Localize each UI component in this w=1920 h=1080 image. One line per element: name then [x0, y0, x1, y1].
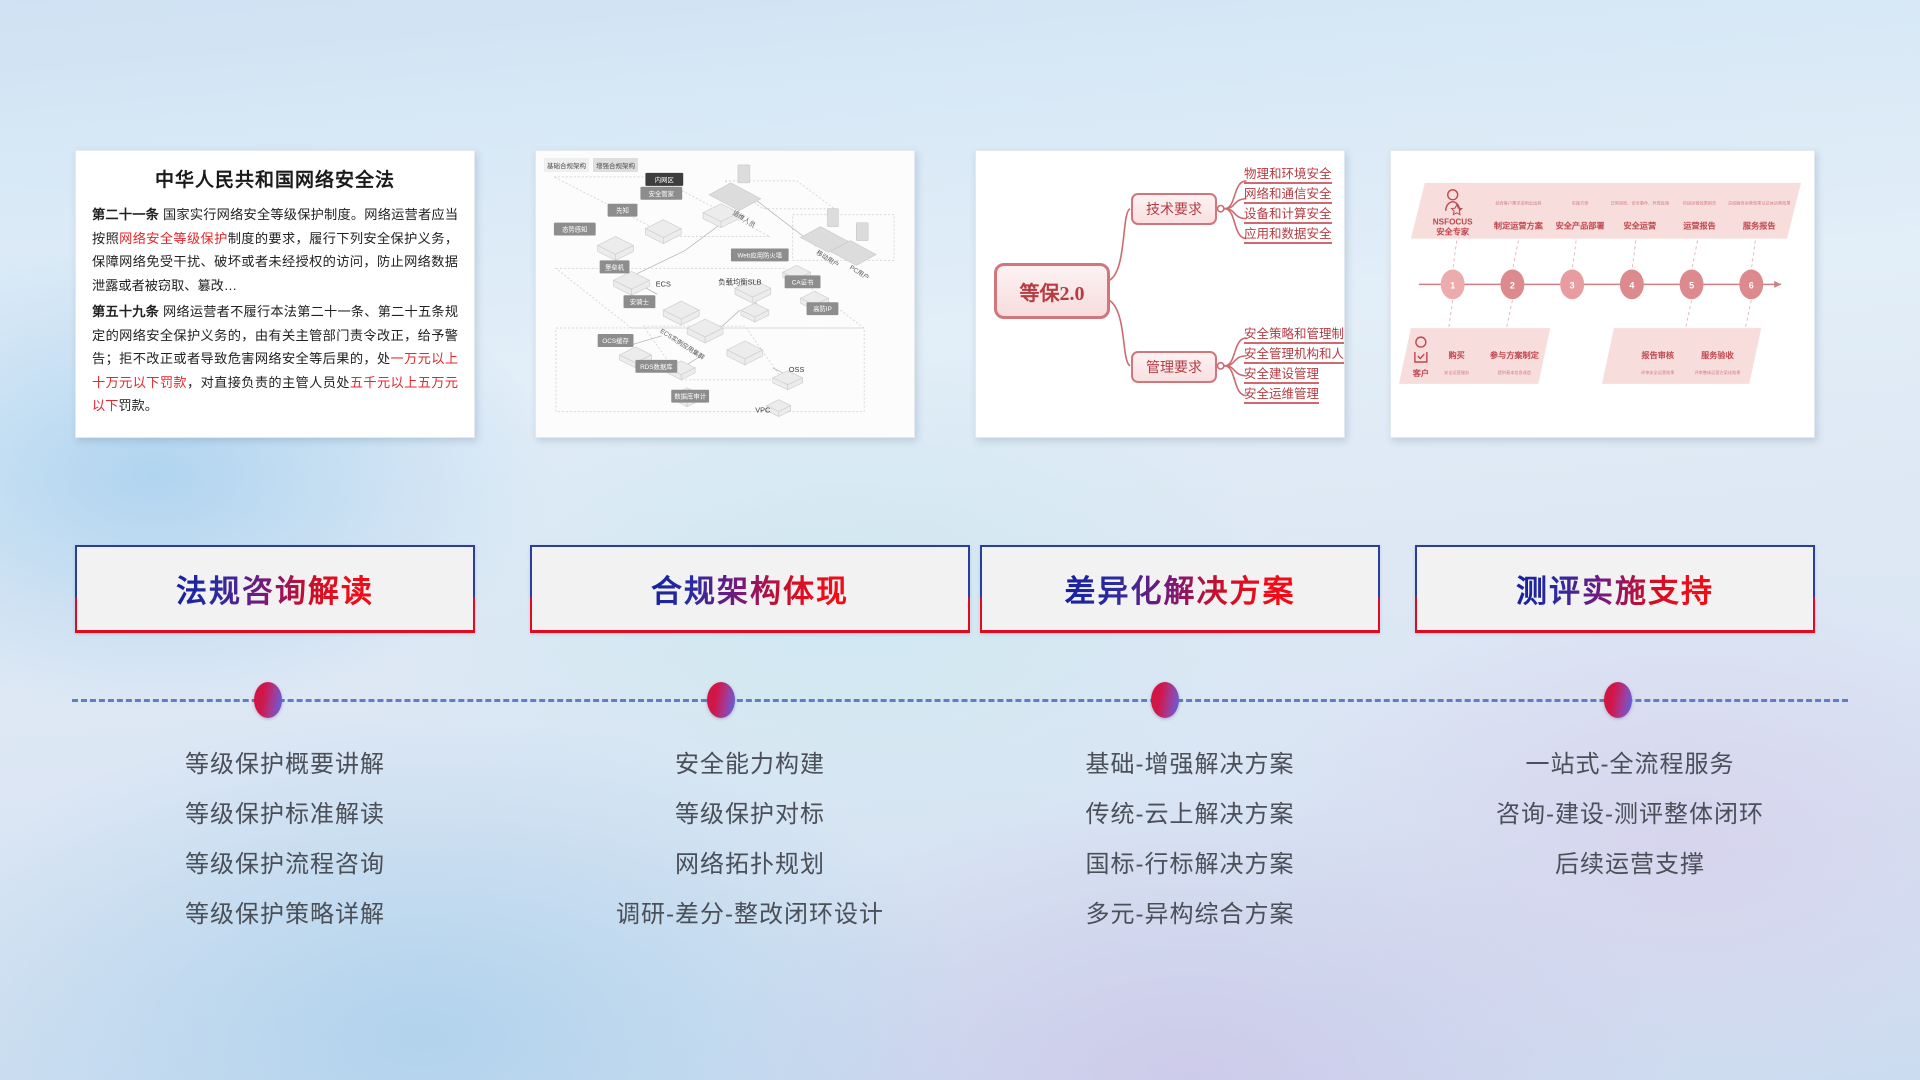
- bottom-band-right: [1602, 328, 1761, 384]
- headline-label: 测评实施支持: [1516, 566, 1714, 611]
- headline-label: 合规架构体现: [651, 566, 849, 611]
- headline-box-regulation-consulting[interactable]: 法规咨询解读: [75, 545, 475, 633]
- top-step-sub: 日常巡检、安全事件、异周处理: [1611, 200, 1670, 206]
- law-paragraph-59: 第五十九条 网络运营者不履行本法第二十一条、第二十五条规定的网络安全保护义务的，…: [92, 300, 458, 418]
- law-run: 罚款。: [118, 398, 158, 413]
- top-step-title: 服务报告: [1743, 221, 1776, 231]
- node-label: 数据库审计: [674, 392, 706, 401]
- step-number: 2: [1510, 280, 1515, 290]
- node-label: OCS缓存: [602, 336, 629, 345]
- node-label: 高防IP: [813, 304, 832, 313]
- mindmap-root-node[interactable]: 等保2.0: [994, 263, 1110, 319]
- detail-lists-row: 等级保护概要讲解 等级保护标准解读 等级保护流程咨询 等级保护策略详解 安全能力…: [0, 740, 1920, 990]
- law-article-number: 第五十九条: [92, 304, 159, 319]
- timeline-connector: [0, 697, 1920, 705]
- timeline-dot-4[interactable]: [1604, 682, 1632, 718]
- mindmap-leaf[interactable]: 安全建设管理: [1244, 367, 1319, 384]
- node-label: OSS: [789, 365, 805, 374]
- mindmap-canvas: 等保2.0 技术要求 管理要求 物理和环境安全 网络和通信安全 设备和计算安全 …: [976, 151, 1344, 437]
- detail-list-differentiated-solution: 基础-增强解决方案 传统-云上解决方案 国标-行标解决方案 多元-异构综合方案: [980, 740, 1400, 940]
- card-mindmap-dengbao: 等保2.0 技术要求 管理要求 物理和环境安全 网络和通信安全 设备和计算安全 …: [975, 150, 1345, 438]
- bottom-step-title: 参与方案制定: [1490, 350, 1540, 360]
- step-number: 1: [1450, 280, 1455, 290]
- step-number: 3: [1570, 280, 1575, 290]
- list-item: 等级保护概要讲解: [75, 740, 495, 790]
- reference-cards-row: 中华人民共和国网络安全法 第二十一条 国家实行网络安全等级保护制度。网络运营者应…: [0, 150, 1920, 440]
- node-label: 内网区: [655, 175, 675, 184]
- list-item: 后续运营支撑: [1420, 840, 1840, 890]
- list-item: 等级保护标准解读: [75, 790, 495, 840]
- list-item: 等级保护流程咨询: [75, 840, 495, 890]
- mindmap-leaf[interactable]: 设备和计算安全: [1244, 207, 1332, 224]
- bottom-step-sub: 提供基本信息改造: [1498, 369, 1532, 375]
- nsfocus-canvas: 1 2 3 4 5 6 NSFOCUS 安全专家: [1391, 151, 1814, 437]
- headline-box-evaluation-support[interactable]: 测评实施支持: [1415, 545, 1815, 633]
- architecture-canvas: 基础合规架构 增强合规架构: [536, 151, 914, 437]
- node-label: 负载均衡SLB: [718, 277, 761, 286]
- mindmap-leaf[interactable]: 物理和环境安全: [1244, 167, 1332, 184]
- law-run: ，对直接负责的主管人员处: [187, 375, 350, 390]
- list-item: 调研-差分-整改闭环设计: [520, 890, 980, 940]
- mindmap-leaf[interactable]: 安全运维管理: [1244, 387, 1319, 404]
- timeline-dashed-line: [72, 699, 1848, 702]
- list-item: 国标-行标解决方案: [980, 840, 1400, 890]
- node-label: CA证书: [792, 277, 814, 286]
- bottom-step-sub: 评审整体运营方案化效果: [1694, 369, 1741, 375]
- headline-label: 差异化解决方案: [1065, 566, 1296, 611]
- law-article-number: 第二十一条: [92, 207, 159, 222]
- card-nsfocus-process: 1 2 3 4 5 6 NSFOCUS 安全专家: [1390, 150, 1815, 438]
- top-step-sub: 实施方案: [1572, 200, 1590, 206]
- headline-label: 法规咨询解读: [176, 566, 374, 611]
- top-step-sub: 阶段运营效果报告: [1683, 200, 1716, 206]
- headline-box-differentiated-solution[interactable]: 差异化解决方案: [980, 545, 1380, 633]
- law-paragraph-21: 第二十一条 国家实行网络安全等级保护制度。网络运营者应当按照网络安全等级保护制度…: [92, 203, 458, 297]
- list-item: 等级保护对标: [520, 790, 980, 840]
- top-step-title: 安全产品部署: [1556, 221, 1605, 231]
- law-run-highlight: 网络安全等级保护: [119, 231, 228, 246]
- node-label: 安全管家: [649, 189, 675, 198]
- bottom-step-title: 服务验收: [1701, 350, 1734, 360]
- detail-list-evaluation-support: 一站式-全流程服务 咨询-建设-测评整体闭环 后续运营支撑: [1420, 740, 1840, 890]
- top-actor-line2: 安全专家: [1436, 227, 1469, 237]
- top-step-title: 安全运营: [1623, 221, 1656, 231]
- list-item: 咨询-建设-测评整体闭环: [1420, 790, 1840, 840]
- node-label: 先知: [616, 206, 629, 215]
- top-step-sub: 结合客户需求说明云出具: [1495, 200, 1541, 206]
- top-step-title: 制定运营方案: [1494, 221, 1544, 231]
- list-item: 等级保护策略详解: [75, 890, 495, 940]
- node-label: Web应用防火墙: [737, 250, 782, 259]
- list-item: 安全能力构建: [520, 740, 980, 790]
- headline-row: 法规咨询解读 合规架构体现 差异化解决方案 测评实施支持: [0, 545, 1920, 640]
- card-architecture-diagram: 基础合规架构 增强合规架构: [535, 150, 915, 438]
- bottom-step-title: 购买: [1448, 350, 1465, 360]
- detail-list-compliance-architecture: 安全能力构建 等级保护对标 网络拓扑规划 调研-差分-整改闭环设计: [520, 740, 980, 940]
- node-label: 态势感知: [562, 225, 587, 234]
- list-item: 基础-增强解决方案: [980, 740, 1400, 790]
- mindmap-leaf[interactable]: 应用和数据安全: [1244, 227, 1332, 244]
- mindmap-leaf[interactable]: 安全策略和管理制度: [1244, 327, 1345, 344]
- top-step-sub: 总结服务运营效果以总体运营效果: [1728, 200, 1791, 206]
- node-label: ECS: [656, 279, 671, 288]
- bottom-step-sub: 安全运营服务: [1444, 369, 1469, 375]
- step-number: 5: [1689, 280, 1694, 290]
- mindmap-branch-technical[interactable]: 技术要求: [1131, 193, 1217, 225]
- card-cybersecurity-law: 中华人民共和国网络安全法 第二十一条 国家实行网络安全等级保护制度。网络运营者应…: [75, 150, 475, 438]
- list-item: 网络拓扑规划: [520, 840, 980, 890]
- law-title: 中华人民共和国网络安全法: [92, 165, 458, 192]
- step-number: 4: [1629, 280, 1634, 290]
- bottom-step-title: 报告审核: [1641, 350, 1674, 360]
- bottom-actor-label: 客户: [1412, 368, 1429, 378]
- mindmap-leaf[interactable]: 安全管理机构和人员: [1244, 347, 1345, 364]
- timeline-dot-3[interactable]: [1151, 682, 1179, 718]
- detail-list-regulation-consulting: 等级保护概要讲解 等级保护标准解读 等级保护流程咨询 等级保护策略详解: [75, 740, 495, 940]
- bottom-step-sub: 评审安全运营效果: [1641, 369, 1675, 375]
- mindmap-branch-management[interactable]: 管理要求: [1131, 351, 1217, 383]
- list-item: 一站式-全流程服务: [1420, 740, 1840, 790]
- node-label: 安骑士: [630, 297, 650, 306]
- top-step-title: 运营报告: [1683, 221, 1716, 231]
- list-item: 传统-云上解决方案: [980, 790, 1400, 840]
- node-label: PC用户: [848, 263, 871, 282]
- law-document: 中华人民共和国网络安全法 第二十一条 国家实行网络安全等级保护制度。网络运营者应…: [76, 151, 474, 431]
- headline-box-compliance-architecture[interactable]: 合规架构体现: [530, 545, 970, 633]
- node-label: VPC: [755, 406, 771, 415]
- node-label: 堡垒机: [605, 262, 625, 271]
- top-actor-line1: NSFOCUS: [1433, 218, 1473, 227]
- nsfocus-svg: 1 2 3 4 5 6 NSFOCUS 安全专家: [1391, 151, 1814, 438]
- mindmap-leaf[interactable]: 网络和通信安全: [1244, 187, 1332, 204]
- step-number: 6: [1749, 280, 1754, 290]
- timeline-dot-1[interactable]: [254, 682, 282, 718]
- list-item: 多元-异构综合方案: [980, 890, 1400, 940]
- node-label: RDS数据库: [640, 362, 673, 371]
- timeline-dot-2[interactable]: [707, 682, 735, 718]
- architecture-svg: 安全管家 先知 态势感知 堡垒机 安骑士 Web应用防火墙 CA证书 高防IP …: [536, 151, 914, 437]
- arrow-head: [1774, 281, 1781, 288]
